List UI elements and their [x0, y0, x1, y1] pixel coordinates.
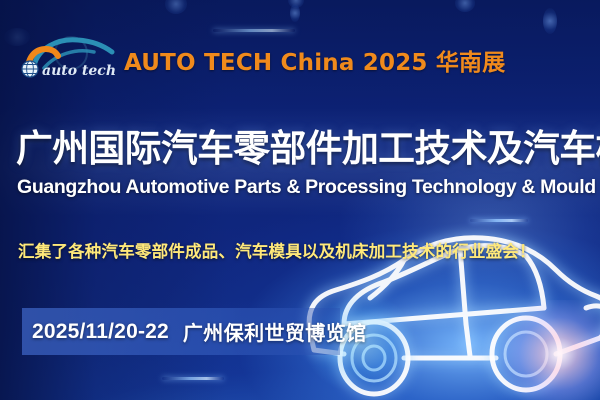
- page-title: 广州国际汽车零部件加工技术及汽车模具展览会: [16, 118, 585, 172]
- banner-header: auto tech AUTO TECH China 2025 华南展: [14, 36, 505, 84]
- tagline: 汇集了各种汽车零部件成品、汽车模具以及机床加工技术的行业盛会！: [18, 238, 536, 262]
- page-subtitle-english: Guangzhou Automotive Parts & Processing …: [17, 176, 600, 199]
- auto-tech-globe-car-logo: auto tech: [14, 36, 118, 84]
- event-banner: auto tech AUTO TECH China 2025 华南展 广州国际汽…: [0, 0, 600, 400]
- brand-title: AUTO TECH China 2025 华南展: [124, 43, 505, 77]
- date-venue-bar: 2025/11/20-22 广州保利世贸博览馆: [22, 308, 340, 355]
- logo-svg: auto tech: [14, 36, 118, 84]
- event-date: 2025/11/20-22: [32, 320, 169, 344]
- logo-wordmark: auto tech: [42, 63, 116, 79]
- event-venue: 广州保利世贸博览馆: [183, 317, 367, 346]
